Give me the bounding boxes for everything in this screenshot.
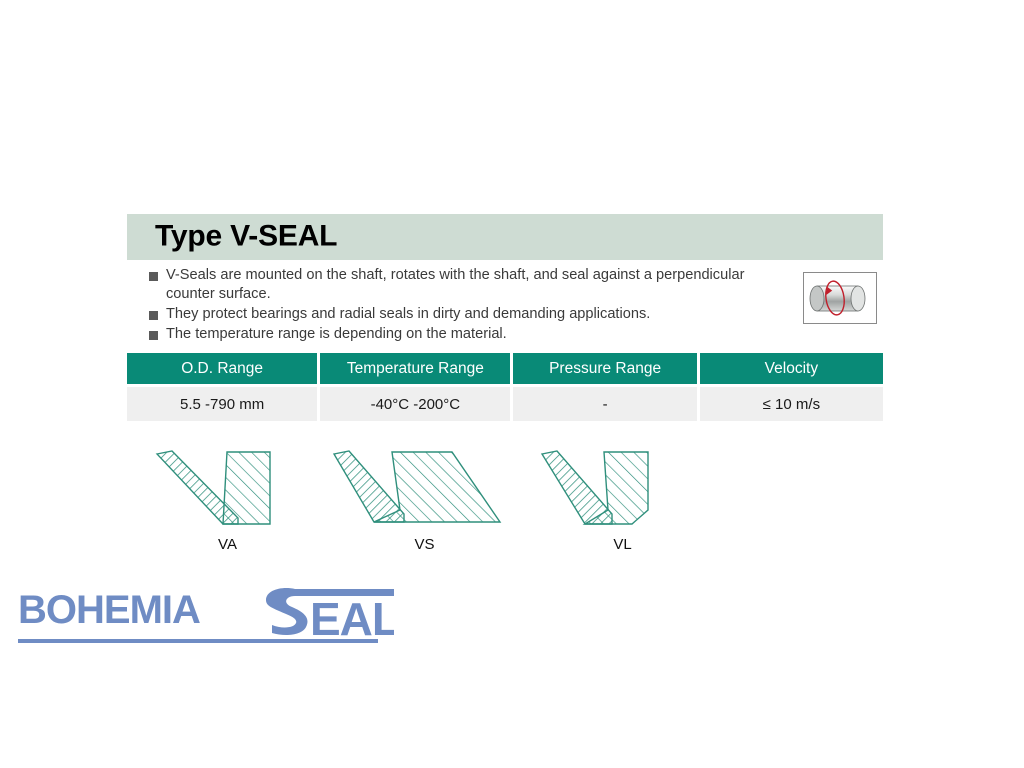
table-header-row: O.D. Range Temperature Range Pressure Ra… (127, 353, 883, 384)
figure-caption-vs: VS (332, 536, 517, 553)
logo-word-bohemia: BOHEMIA (18, 588, 200, 632)
column-header-temperature-range: Temperature Range (320, 353, 510, 384)
bohemia-seal-logo: BOHEMIA EAL (14, 583, 394, 645)
list-item: They protect bearings and radial seals i… (149, 305, 794, 324)
square-bullet-icon (149, 331, 158, 340)
figure-caption-va: VA (145, 536, 310, 553)
list-item-label: The temperature range is depending on th… (166, 325, 507, 344)
vl-profile-drawing (540, 448, 705, 533)
table-row: 5.5 -790 mm -40°C -200°C - ≤ 10 m/s (127, 387, 883, 421)
list-item-label: V-Seals are mounted on the shaft, rotate… (166, 266, 794, 304)
cell-velocity: ≤ 10 m/s (700, 387, 883, 421)
specification-table: O.D. Range Temperature Range Pressure Ra… (127, 353, 883, 421)
seal-profile-vs: VS (332, 448, 517, 538)
list-item: The temperature range is depending on th… (149, 325, 794, 344)
column-header-velocity: Velocity (700, 353, 883, 384)
cell-temperature-range: -40°C -200°C (320, 387, 510, 421)
square-bullet-icon (149, 272, 158, 281)
square-bullet-icon (149, 311, 158, 320)
logo-word-eal: EAL (310, 593, 394, 645)
va-profile-drawing (145, 448, 310, 533)
logo-graphic: BOHEMIA EAL (14, 583, 394, 645)
rotating-shaft-icon (803, 272, 877, 324)
rotating-shaft-graphic (804, 273, 876, 323)
column-header-od-range: O.D. Range (127, 353, 317, 384)
description-bullet-list: V-Seals are mounted on the shaft, rotate… (149, 266, 794, 345)
list-item-label: They protect bearings and radial seals i… (166, 305, 650, 324)
list-item: V-Seals are mounted on the shaft, rotate… (149, 266, 794, 304)
cell-od-range: 5.5 -790 mm (127, 387, 317, 421)
cell-pressure-range: - (513, 387, 696, 421)
seal-profile-figures: VA VS VL (127, 448, 883, 563)
vs-profile-drawing (332, 448, 517, 533)
column-header-pressure-range: Pressure Range (513, 353, 696, 384)
seal-profile-va: VA (145, 448, 310, 538)
title-band: Type V-SEAL (127, 214, 883, 260)
figure-caption-vl: VL (540, 536, 705, 553)
logo-underline (18, 639, 378, 643)
seal-profile-vl: VL (540, 448, 705, 538)
page-title: Type V-SEAL (155, 219, 337, 253)
